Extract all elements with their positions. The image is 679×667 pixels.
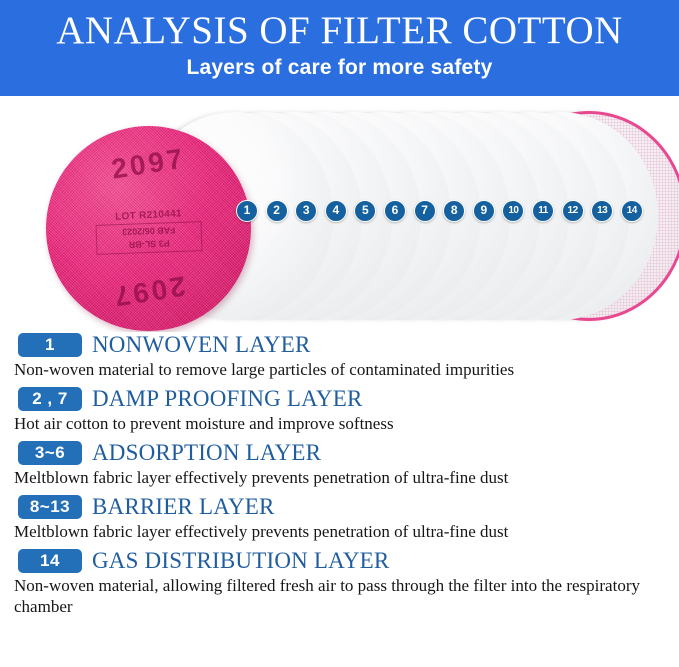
header-banner: ANALYSIS OF FILTER COTTON Layers of care… [0,0,679,96]
layer-badge-11[interactable]: 11 [532,200,554,222]
layer-row: 8~13BARRIER LAYERMeltblown fabric layer … [0,494,679,542]
layer-description: Non-woven material to remove large parti… [0,357,679,380]
layer-badge-2[interactable]: 2 [266,200,288,222]
layer-header: 2 , 7DAMP PROOFING LAYER [0,386,679,411]
cartridge-code-top: 2097 [45,132,252,196]
layer-badge-1[interactable]: 1 [236,200,258,222]
page-title: ANALYSIS OF FILTER COTTON [56,8,623,54]
layer-description-list: 1NONWOVEN LAYERNon-woven material to rem… [0,332,679,623]
layer-badge-9[interactable]: 9 [473,200,495,222]
layer-tag-badge[interactable]: 2 , 7 [18,387,82,411]
layer-title: ADSORPTION LAYER [92,440,321,465]
layer-title: DAMP PROOFING LAYER [92,386,362,411]
layer-description: Hot air cotton to prevent moisture and i… [0,411,679,434]
layer-header: 14GAS DISTRIBUTION LAYER [0,548,679,573]
cartridge-spec-line2: P3 SL-BR [97,235,201,252]
layer-title: GAS DISTRIBUTION LAYER [92,548,389,573]
layer-badge-14[interactable]: 14 [621,200,643,222]
layer-tag-badge[interactable]: 1 [18,333,82,357]
layer-description: Non-woven material, allowing filtered fr… [0,573,679,617]
layer-tag-badge[interactable]: 8~13 [18,495,82,519]
layer-row: 1NONWOVEN LAYERNon-woven material to rem… [0,332,679,380]
layer-badge-12[interactable]: 12 [562,200,584,222]
layer-badge-6[interactable]: 6 [384,200,406,222]
layer-description: Meltblown fabric layer effectively preve… [0,519,679,542]
layer-badge-4[interactable]: 4 [325,200,347,222]
page-subtitle: Layers of care for more safety [187,55,493,81]
layer-badge-7[interactable]: 7 [414,200,436,222]
front-filter-cartridge: 2097 LOT R210441 FAB 06/2023 P3 SL-BR 20… [46,126,251,331]
layer-row: 14GAS DISTRIBUTION LAYERNon-woven materi… [0,548,679,617]
layer-tag-badge[interactable]: 14 [18,549,82,573]
layer-header: 8~13BARRIER LAYER [0,494,679,519]
filter-layers-illustration: 2097 LOT R210441 FAB 06/2023 P3 SL-BR 20… [0,96,679,332]
layer-description: Meltblown fabric layer effectively preve… [0,465,679,488]
layer-title: NONWOVEN LAYER [92,332,311,357]
layer-row: 2 , 7DAMP PROOFING LAYERHot air cotton t… [0,386,679,434]
layer-row: 3~6ADSORPTION LAYERMeltblown fabric laye… [0,440,679,488]
layer-header: 1NONWOVEN LAYER [0,332,679,357]
layer-tag-badge[interactable]: 3~6 [18,441,82,465]
cartridge-spec-box: FAB 06/2023 P3 SL-BR [96,221,203,255]
layer-header: 3~6ADSORPTION LAYER [0,440,679,465]
layer-title: BARRIER LAYER [92,494,275,519]
